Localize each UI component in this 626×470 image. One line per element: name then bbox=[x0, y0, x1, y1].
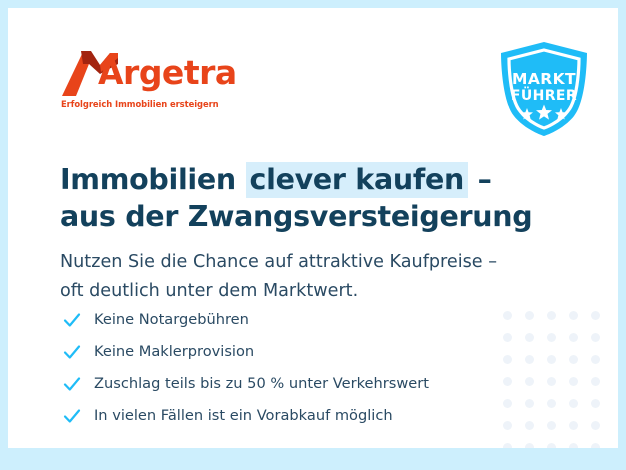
decorative-dot bbox=[525, 443, 534, 449]
logo-tagline: Erfolgreich Immobilien ersteigern bbox=[61, 99, 270, 109]
headline-trail-text: – bbox=[468, 163, 492, 196]
decorative-dot bbox=[569, 311, 578, 320]
decorative-dot bbox=[591, 377, 600, 386]
decorative-dot bbox=[569, 421, 578, 430]
decorative-dot bbox=[547, 377, 556, 386]
decorative-dot bbox=[591, 399, 600, 408]
decorative-dot bbox=[547, 355, 556, 364]
decorative-dot bbox=[547, 333, 556, 342]
benefits-list: Keine Notargebühren Keine Maklerprovisio… bbox=[62, 304, 532, 432]
decorative-dot bbox=[569, 443, 578, 449]
subheadline-line-2: oft deutlich unter dem Marktwert. bbox=[60, 277, 570, 306]
decorative-dot bbox=[547, 399, 556, 408]
logo-lockup: Argetra bbox=[60, 48, 270, 96]
decorative-dot bbox=[591, 443, 600, 449]
decorative-dot bbox=[547, 421, 556, 430]
headline-line-1: Immobilien clever kaufen – bbox=[60, 161, 560, 198]
list-item: Keine Maklerprovision bbox=[62, 336, 532, 368]
list-item: In vielen Fällen ist ein Vorabkauf mögli… bbox=[62, 400, 532, 432]
page-title: Immobilien clever kaufen – aus der Zwang… bbox=[60, 161, 560, 235]
headline-highlight: clever kaufen bbox=[246, 162, 468, 198]
check-icon bbox=[62, 342, 82, 362]
list-item: Zuschlag teils bis zu 50 % unter Verkehr… bbox=[62, 368, 532, 400]
argetra-logo: Argetra Erfolgreich Immobilien ersteiger… bbox=[60, 48, 270, 109]
list-item: Keine Notargebühren bbox=[62, 304, 532, 336]
svg-text:FÜHRER: FÜHRER bbox=[511, 86, 577, 104]
subheadline-line-1: Nutzen Sie die Chance auf attraktive Kau… bbox=[60, 248, 570, 277]
headline-line-2: aus der Zwangsversteigerung bbox=[60, 198, 560, 235]
svg-text:MARKT: MARKT bbox=[512, 70, 576, 88]
decorative-dot bbox=[569, 399, 578, 408]
decorative-dot bbox=[569, 355, 578, 364]
check-icon bbox=[62, 310, 82, 330]
check-icon bbox=[62, 406, 82, 426]
benefit-label: In vielen Fällen ist ein Vorabkauf mögli… bbox=[94, 406, 393, 426]
decorative-dot bbox=[591, 333, 600, 342]
check-icon bbox=[62, 374, 82, 394]
benefit-label: Zuschlag teils bis zu 50 % unter Verkehr… bbox=[94, 374, 429, 394]
decorative-dot bbox=[591, 421, 600, 430]
benefit-label: Keine Maklerprovision bbox=[94, 342, 254, 362]
promo-card: Argetra Erfolgreich Immobilien ersteiger… bbox=[8, 8, 618, 448]
decorative-dot bbox=[591, 355, 600, 364]
benefit-label: Keine Notargebühren bbox=[94, 310, 249, 330]
shield-badge-icon: MARKT FÜHRER bbox=[497, 40, 591, 138]
headline-lead-text: Immobilien bbox=[60, 163, 246, 196]
decorative-dot bbox=[591, 311, 600, 320]
decorative-dot bbox=[547, 311, 556, 320]
decorative-dot bbox=[503, 443, 512, 449]
market-leader-badge: MARKT FÜHRER bbox=[497, 40, 591, 138]
decorative-dot bbox=[547, 443, 556, 449]
subheadline: Nutzen Sie die Chance auf attraktive Kau… bbox=[60, 248, 570, 306]
decorative-dot bbox=[569, 333, 578, 342]
logo-wordmark: Argetra bbox=[98, 54, 237, 92]
decorative-dot bbox=[569, 377, 578, 386]
